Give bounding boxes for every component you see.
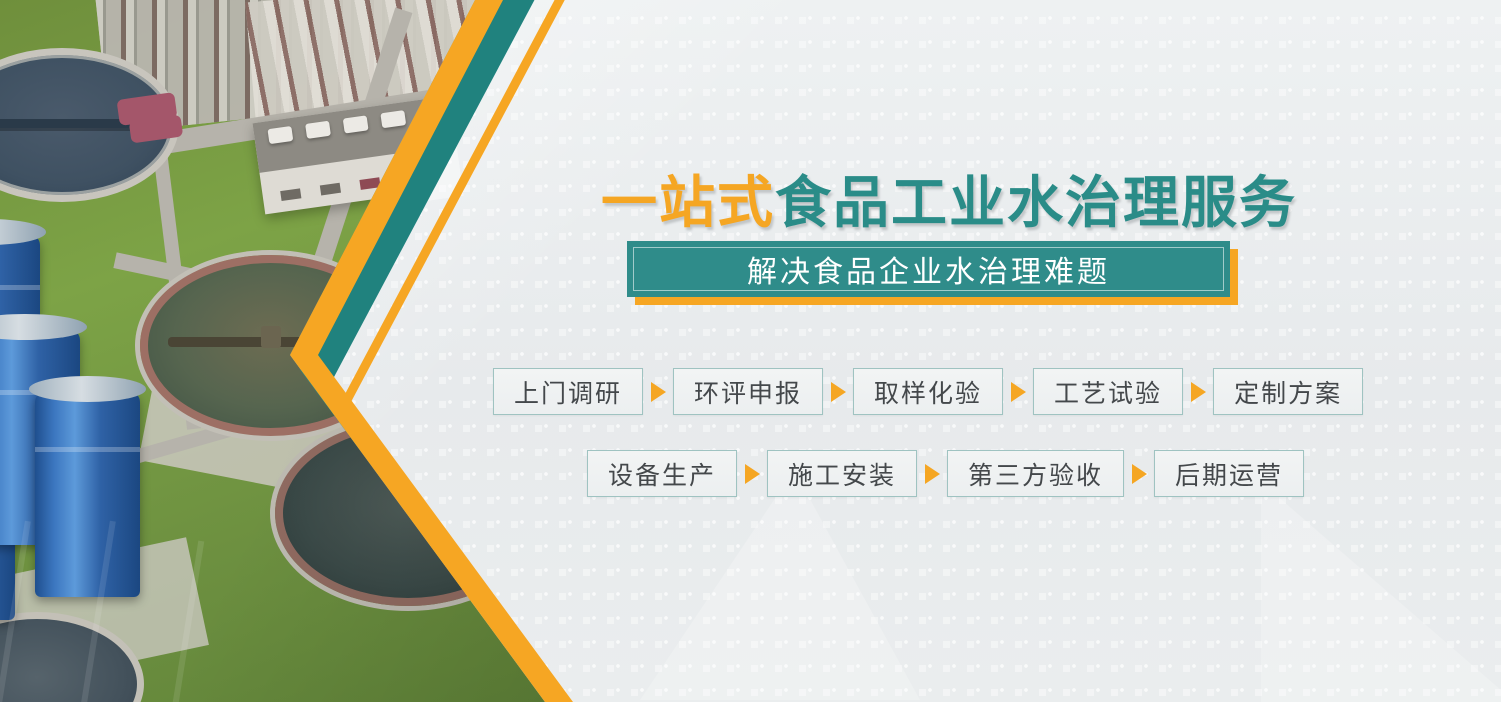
process-step-gongyishiyan[interactable]: 工艺试验: [1033, 368, 1183, 415]
arrow-right-icon: [643, 382, 673, 402]
headline-accent-text: 一站式: [601, 171, 775, 234]
process-step-quyanghuayan[interactable]: 取样化验: [853, 368, 1003, 415]
arrow-right-icon: [737, 464, 767, 484]
process-step-huangpingshenbao[interactable]: 环评申报: [673, 368, 823, 415]
process-step-shangmendiaoyan[interactable]: 上门调研: [493, 368, 643, 415]
arrow-right-icon: [823, 382, 853, 402]
process-row-1: 上门调研 环评申报 取样化验 工艺试验 定制方案: [493, 368, 1363, 415]
arrow-right-icon: [917, 464, 947, 484]
arrow-right-icon: [1124, 464, 1154, 484]
headline-main-text: 食品工业水治理服务: [775, 171, 1297, 234]
process-step-houqiyunying[interactable]: 后期运营: [1154, 450, 1304, 497]
process-step-shebeishengchan[interactable]: 设备生产: [587, 450, 737, 497]
arrow-right-icon: [1003, 382, 1033, 402]
subtitle-text: 解决食品企业水治理难题: [747, 247, 1110, 291]
process-step-dingzhifangan[interactable]: 定制方案: [1213, 368, 1363, 415]
promo-banner: 一站式食品工业水治理服务 解决食品企业水治理难题 上门调研 环评申报 取样化验 …: [0, 0, 1501, 702]
process-step-shigonganzhuang[interactable]: 施工安装: [767, 450, 917, 497]
subtitle-bar: 解决食品企业水治理难题: [627, 241, 1230, 297]
process-row-2: 设备生产 施工安装 第三方验收 后期运营: [587, 450, 1304, 497]
page-title: 一站式食品工业水治理服务: [601, 158, 1297, 239]
process-step-disanfangyanshou[interactable]: 第三方验收: [947, 450, 1124, 497]
arrow-right-icon: [1183, 382, 1213, 402]
